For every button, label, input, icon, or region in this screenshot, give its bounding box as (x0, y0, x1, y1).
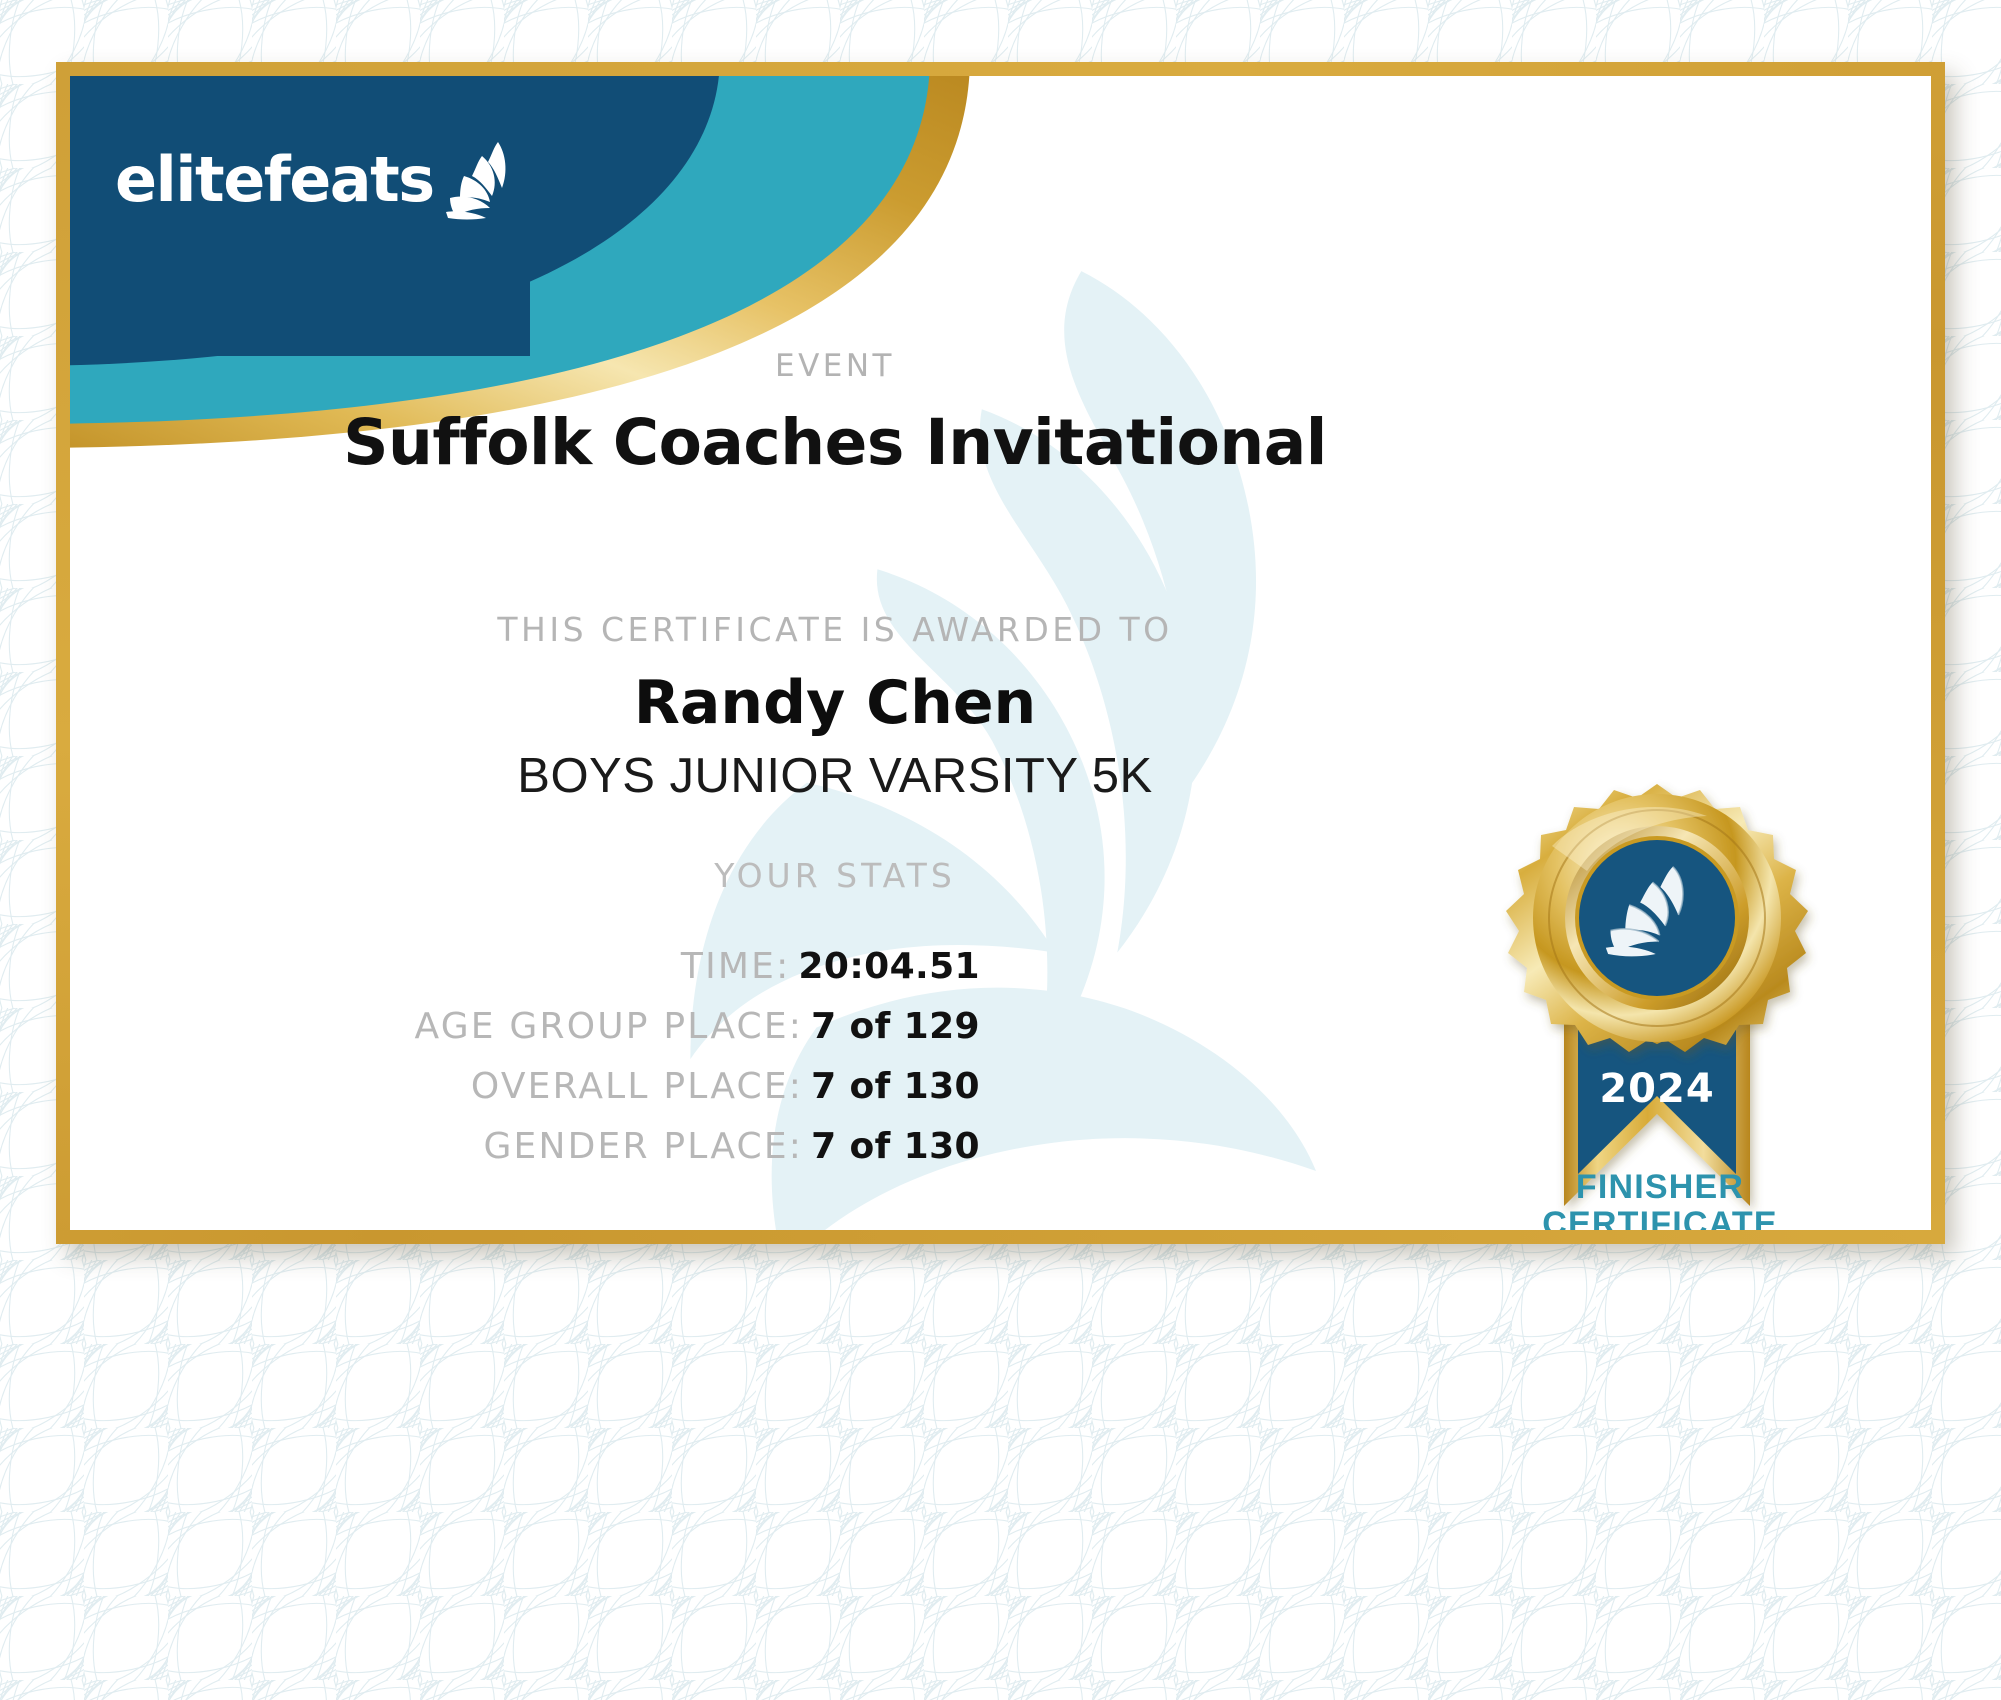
finisher-certificate-caption: FINISHER CERTIFICATE (1470, 1169, 1850, 1230)
certificate-page: elitefeats EVENT Suffolk Coac (0, 0, 2001, 1700)
stat-row-age-group-place: AGE GROUP PLACE:7 of 129 (70, 1006, 1600, 1047)
stats-list: TIME:20:04.51 AGE GROUP PLACE:7 of 129 O… (70, 946, 1600, 1186)
stat-row-overall-place: OVERALL PLACE:7 of 130 (70, 1066, 1600, 1107)
finisher-line-2: CERTIFICATE (1470, 1206, 1850, 1230)
finisher-medal-badge: 2024 (1492, 776, 1822, 1230)
stat-row-gender-place: GENDER PLACE:7 of 130 (70, 1126, 1600, 1167)
stat-value: 20:04.51 (798, 946, 980, 987)
stat-label: GENDER PLACE: (483, 1126, 803, 1167)
stat-value: 7 of 130 (811, 1126, 980, 1167)
finisher-line-1: FINISHER (1470, 1169, 1850, 1206)
stat-value: 7 of 129 (811, 1006, 980, 1047)
awarded-to-label: THIS CERTIFICATE IS AWARDED TO (70, 610, 1600, 649)
division-name: BOYS JUNIOR VARSITY 5K (70, 748, 1600, 804)
badge-year: 2024 (1599, 1066, 1714, 1112)
event-label: EVENT (70, 348, 1600, 384)
stat-label: AGE GROUP PLACE: (415, 1006, 804, 1047)
stat-row-time: TIME:20:04.51 (70, 946, 1600, 987)
stat-label: TIME: (681, 946, 791, 987)
stat-label: OVERALL PLACE: (471, 1066, 803, 1107)
stat-value: 7 of 130 (811, 1066, 980, 1107)
recipient-name: Randy Chen (70, 668, 1600, 738)
your-stats-label: YOUR STATS (70, 856, 1600, 895)
certificate-body: EVENT Suffolk Coaches Invitational THIS … (70, 76, 1931, 1230)
certificate-card: elitefeats EVENT Suffolk Coac (56, 62, 1945, 1244)
event-title: Suffolk Coaches Invitational (70, 406, 1600, 479)
